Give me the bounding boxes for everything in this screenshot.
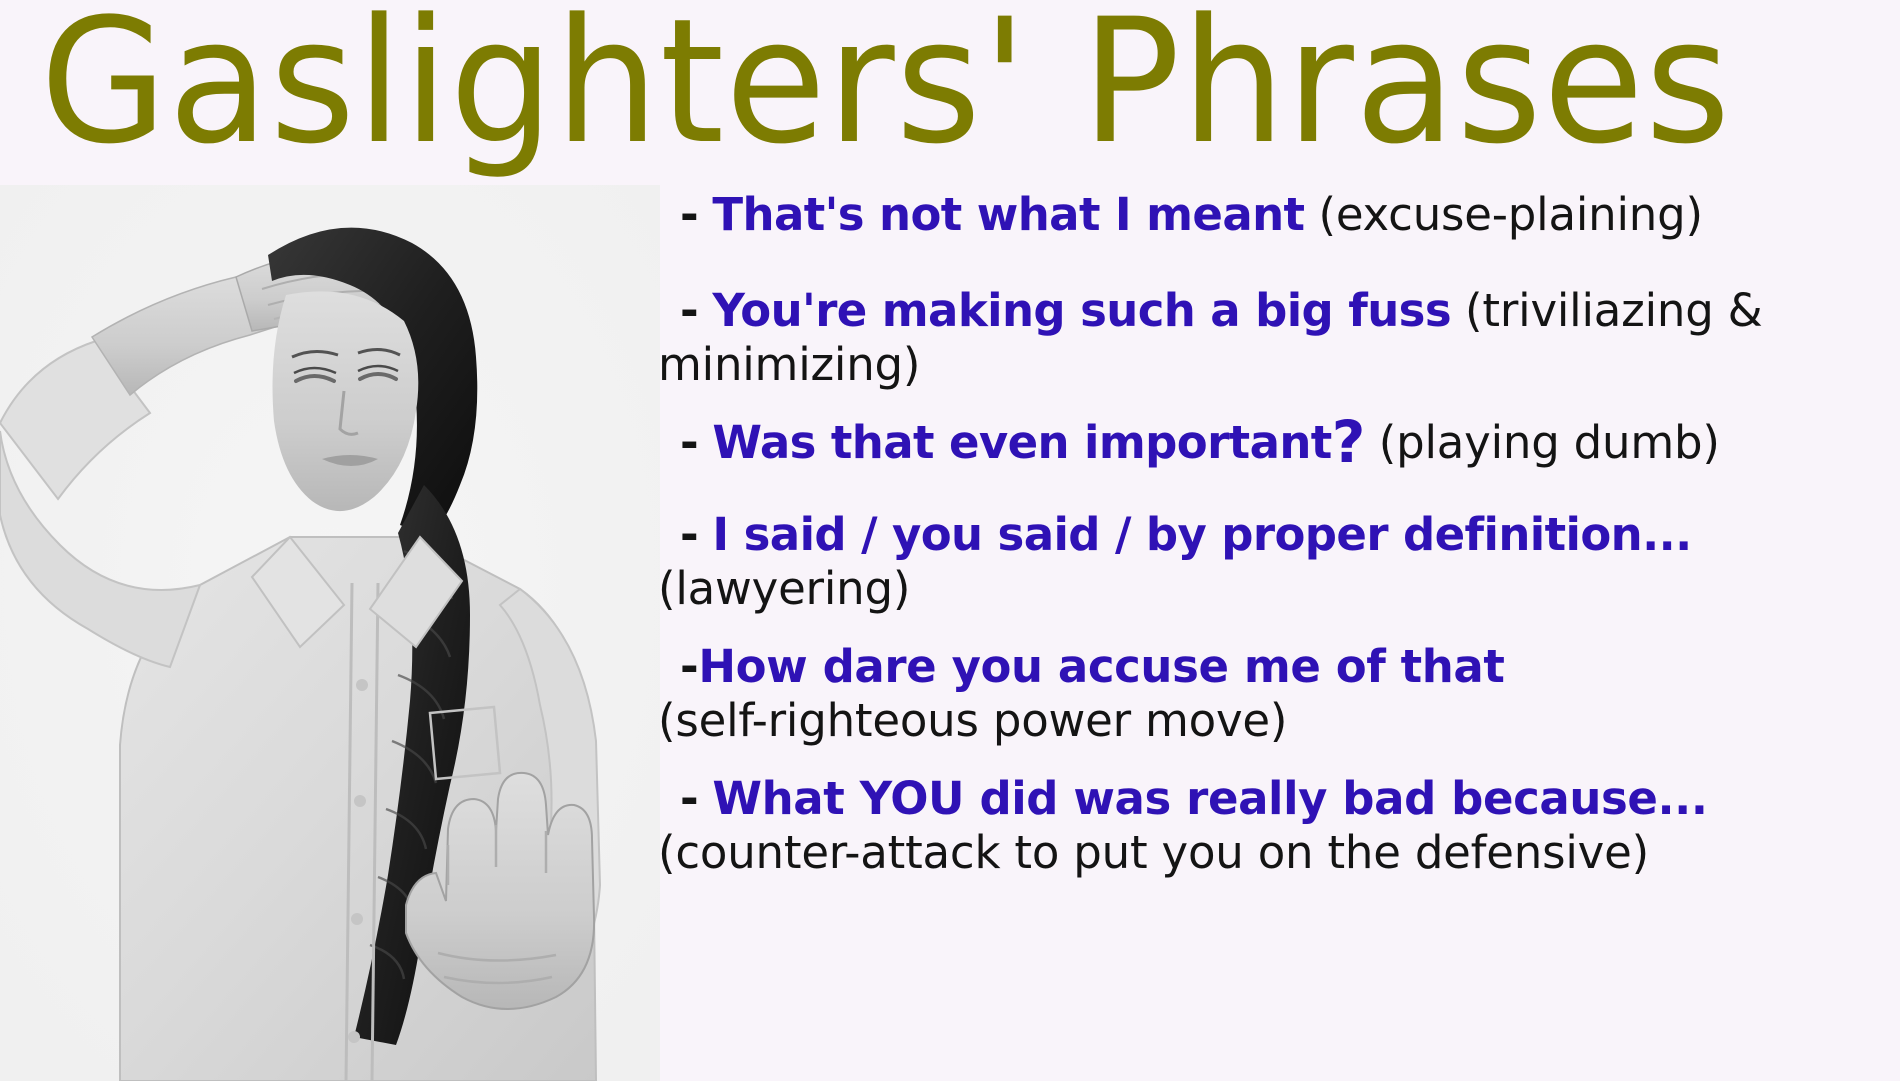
phrase-tag: (triviliazing & [1465, 284, 1763, 337]
list-item: - You're making such a big fuss (trivili… [680, 284, 1895, 392]
phrase-tag: (excuse-plaining) [1318, 188, 1702, 241]
phrase-tag-continued: (self-righteous power move) [658, 694, 1895, 748]
phrase-quote: How dare you accuse me of that [698, 640, 1504, 693]
phrase-quote: That's not what I meant [712, 188, 1304, 241]
phrase-quote: I said / you said / by proper definition… [712, 508, 1691, 561]
phrase-tag-continued: (counter-attack to put you on the defens… [658, 826, 1895, 880]
phrase-quote: Was that even important [712, 416, 1331, 469]
list-item: - Was that even important? (playing dumb… [680, 416, 1895, 470]
list-item: - I said / you said / by proper definiti… [680, 508, 1895, 616]
list-item: -How dare you accuse me of that (self-ri… [680, 640, 1895, 748]
phrase-quote: What YOU did was really bad because... [712, 772, 1707, 825]
distressed-woman-photo [0, 185, 660, 1081]
bullet-dash: - [680, 508, 698, 561]
gaslighters-phrases-poster: Gaslighters' Phrases [0, 0, 1900, 1081]
list-item: - What YOU did was really bad because...… [680, 772, 1895, 880]
phrase-tag-continued: minimizing) [658, 338, 1895, 392]
page-title: Gaslighters' Phrases [40, 0, 1900, 169]
photo-container [0, 185, 660, 1081]
bullet-dash: - [680, 772, 698, 825]
phrase-question-mark: ? [1332, 408, 1365, 476]
bullet-dash: - [680, 284, 698, 337]
bullet-dash: - [680, 188, 698, 241]
list-item: - That's not what I meant (excuse-plaini… [680, 188, 1895, 242]
phrase-quote: You're making such a big fuss [712, 284, 1451, 337]
phrase-tag-continued: (lawyering) [658, 562, 1895, 616]
phrase-tag: (playing dumb) [1379, 416, 1720, 469]
bullet-dash: - [680, 640, 698, 693]
bullet-dash: - [680, 416, 698, 469]
